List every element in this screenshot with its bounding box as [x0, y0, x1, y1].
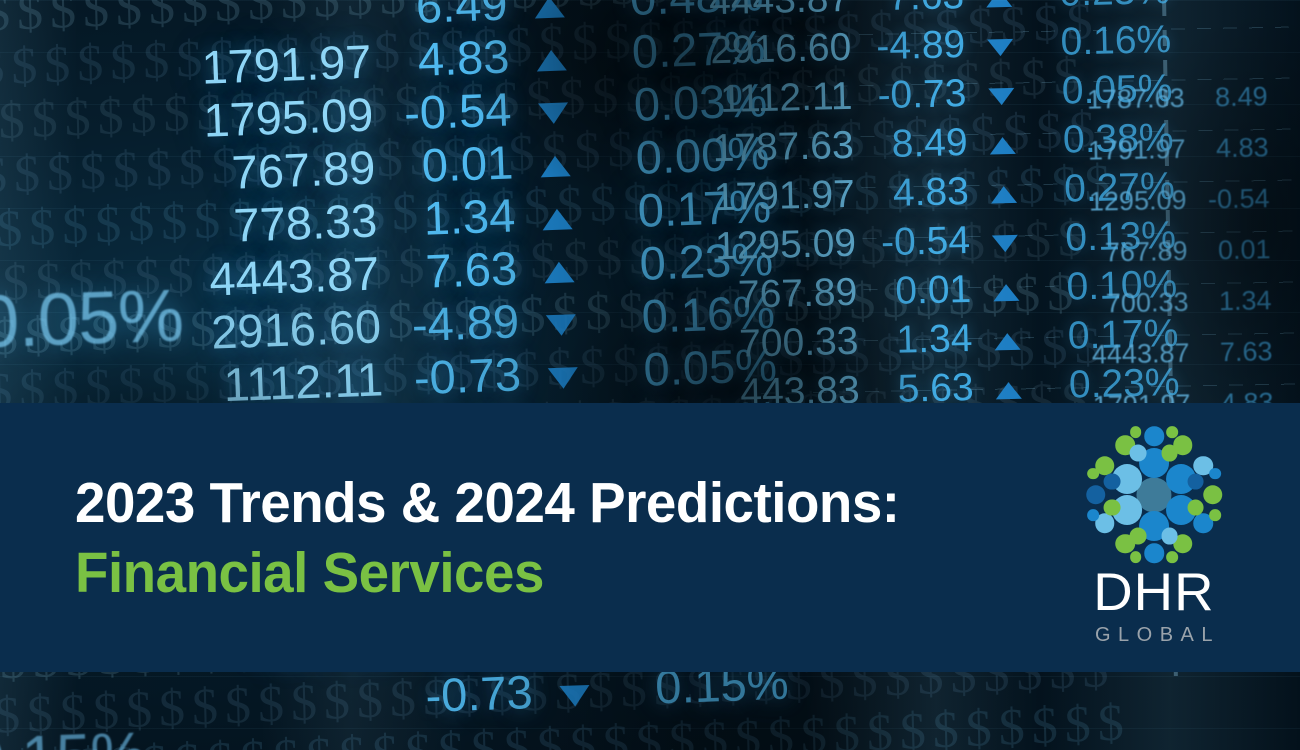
title-banner: 2023 Trends & 2024 Predictions: Financia… — [0, 403, 1300, 672]
dhr-wordmark: DHR — [1093, 566, 1214, 620]
logo-dot — [1130, 528, 1147, 545]
logo-dot — [1087, 468, 1099, 480]
dhr-global-logo[interactable]: DHR GLOBAL — [1070, 430, 1238, 646]
logo-dot — [1144, 543, 1164, 563]
dhr-tagline: GLOBAL — [1088, 624, 1220, 646]
logo-dot — [1130, 551, 1142, 563]
logo-dot — [1144, 426, 1164, 446]
logo-dot — [1161, 528, 1178, 545]
logo-dot — [1187, 499, 1204, 516]
logo-dot — [1166, 426, 1178, 438]
logo-dot — [1203, 485, 1223, 505]
logo-dot — [1166, 551, 1178, 563]
logo-dot — [1104, 499, 1121, 516]
poster-canvas: $$$$$$$$$$$$$$$$$$$$$$$$$$$$$$$$$$$$$$$$… — [0, 0, 1300, 750]
logo-dot — [1209, 509, 1221, 521]
page-title-main: 2023 Trends & 2024 Predictions: — [75, 468, 1030, 538]
logo-dot — [1130, 444, 1147, 461]
logo-dot — [1104, 473, 1121, 490]
logo-dot — [1209, 468, 1221, 480]
title-block: 2023 Trends & 2024 Predictions: Financia… — [75, 468, 1070, 608]
logo-dot — [1161, 444, 1178, 461]
logo-dot — [1086, 485, 1106, 505]
dhr-dot-burst-icon — [1089, 430, 1219, 560]
logo-dot — [1187, 473, 1204, 490]
page-title-subject: Financial Services — [75, 538, 1030, 608]
logo-dot — [1087, 509, 1099, 521]
logo-dot — [1130, 426, 1142, 438]
